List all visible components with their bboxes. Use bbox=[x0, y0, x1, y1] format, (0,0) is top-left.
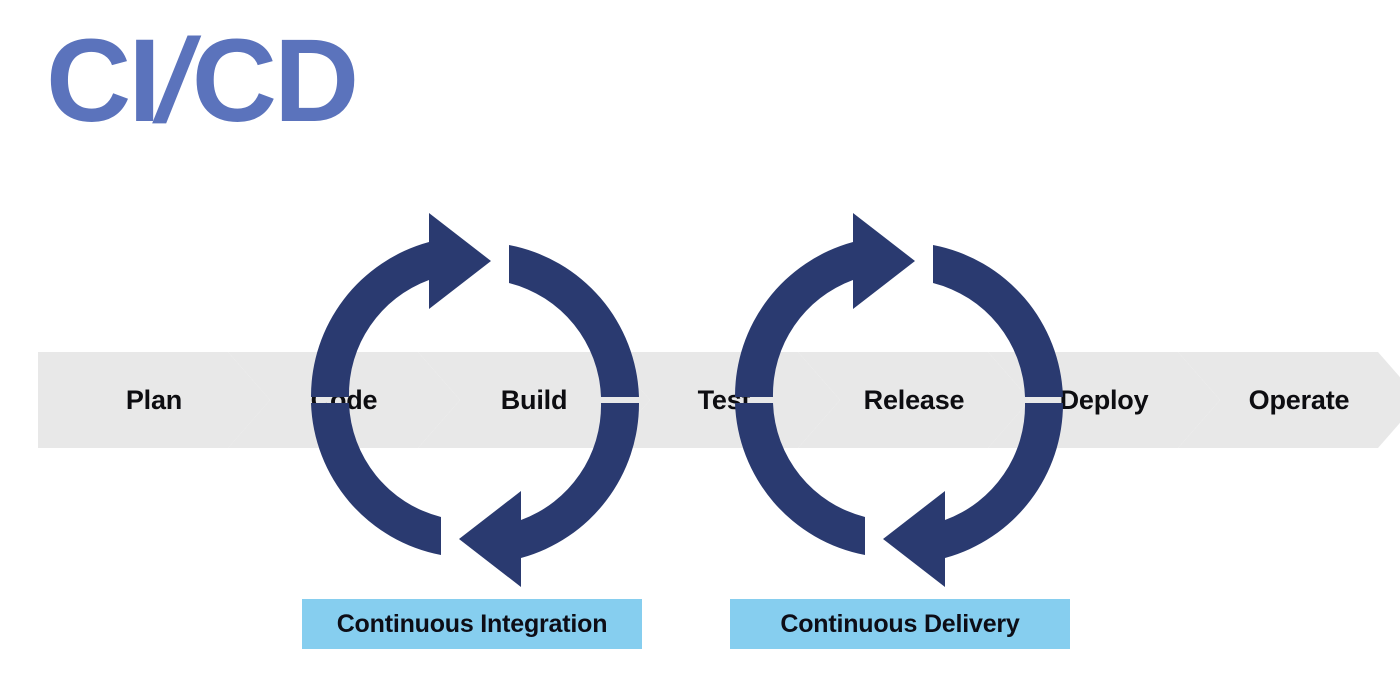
ci-bottom-arc-arrow bbox=[459, 403, 639, 587]
caption-label: Continuous Delivery bbox=[780, 610, 1019, 639]
caption-label: Continuous Integration bbox=[337, 610, 608, 639]
title-ci: CI bbox=[46, 15, 158, 147]
continuous-integration-cycle-icon bbox=[295, 205, 655, 595]
continuous-integration-caption: Continuous Integration bbox=[302, 599, 642, 649]
pipeline-stage-label: Plan bbox=[126, 385, 182, 416]
page-title: CI/CD bbox=[46, 22, 356, 140]
pipeline-stage-label: Operate bbox=[1249, 385, 1350, 416]
cd-top-right-arc bbox=[933, 245, 1063, 397]
cd-bottom-left-arc bbox=[735, 403, 865, 555]
cd-top-arc-arrow bbox=[735, 213, 915, 397]
ci-top-right-arc bbox=[509, 245, 639, 397]
continuous-delivery-caption: Continuous Delivery bbox=[730, 599, 1070, 649]
continuous-delivery-cycle-icon bbox=[719, 205, 1079, 595]
title-cd: CD bbox=[192, 15, 356, 147]
ci-bottom-left-arc bbox=[311, 403, 441, 555]
ci-top-arc-arrow bbox=[311, 213, 491, 397]
cicd-diagram: CI/CD Plan Code Build Test Release Deplo… bbox=[0, 0, 1400, 683]
pipeline-bar: Plan Code Build Test Release Deploy Oper… bbox=[38, 352, 1378, 448]
pipeline-stage-plan[interactable]: Plan bbox=[38, 352, 270, 448]
cd-bottom-arc-arrow bbox=[883, 403, 1063, 587]
